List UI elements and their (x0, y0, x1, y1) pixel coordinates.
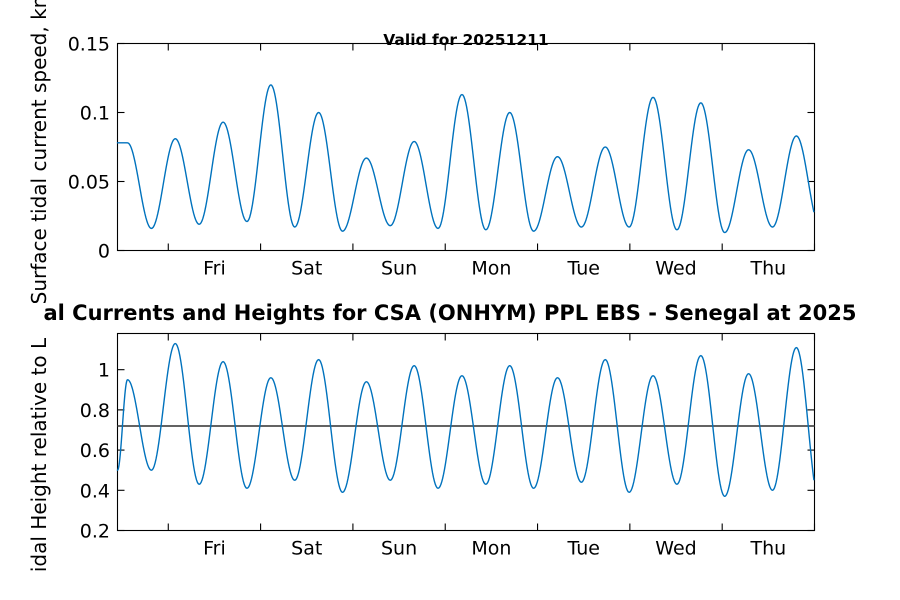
svg-text:idal Height relative to L: idal Height relative to L (27, 337, 51, 572)
y-tick-label: 0.05 (68, 172, 110, 194)
x-tick-label: Sun (381, 258, 417, 280)
y-tick-label: 0.1 (80, 103, 110, 125)
svg-text:Surface tidal current speed, k: Surface tidal current speed, kn (27, 0, 51, 304)
tidal-forecast-figure: Valid for 20251211 Surface tidal current… (0, 0, 900, 600)
x-tick-label: Mon (471, 538, 511, 560)
y-tick-label: 0.6 (80, 440, 110, 462)
x-tick-label: Tue (566, 258, 599, 280)
y-axis-label-current-speed: Surface tidal current speed, kn (27, 0, 51, 304)
y-tick-label: 1 (98, 360, 110, 382)
x-tick-label: Fri (203, 538, 226, 560)
x-tick-label: Sun (381, 538, 417, 560)
y-axis-label-tidal-height: idal Height relative to L (27, 337, 51, 572)
x-tick-label: Sat (291, 538, 322, 560)
x-tick-label: Thu (749, 538, 786, 560)
x-tick-label: Thu (749, 258, 786, 280)
x-tick-label: Sat (291, 258, 322, 280)
subplot-title-current-speed: Valid for 20251211 (383, 31, 548, 49)
y-tick-label: 0.4 (80, 480, 110, 502)
y-tick-label: 0.15 (68, 34, 110, 56)
x-tick-label: Fri (203, 258, 226, 280)
page-title: al Currents and Heights for CSA (ONHYM) … (44, 301, 857, 325)
figure-background (0, 0, 900, 600)
y-tick-label: 0.2 (80, 521, 110, 543)
x-tick-label: Wed (655, 538, 696, 560)
x-tick-label: Mon (471, 258, 511, 280)
y-tick-label: 0.8 (80, 400, 110, 422)
y-tick-label: 0 (98, 241, 110, 263)
x-tick-label: Wed (655, 258, 696, 280)
x-tick-label: Tue (566, 538, 599, 560)
